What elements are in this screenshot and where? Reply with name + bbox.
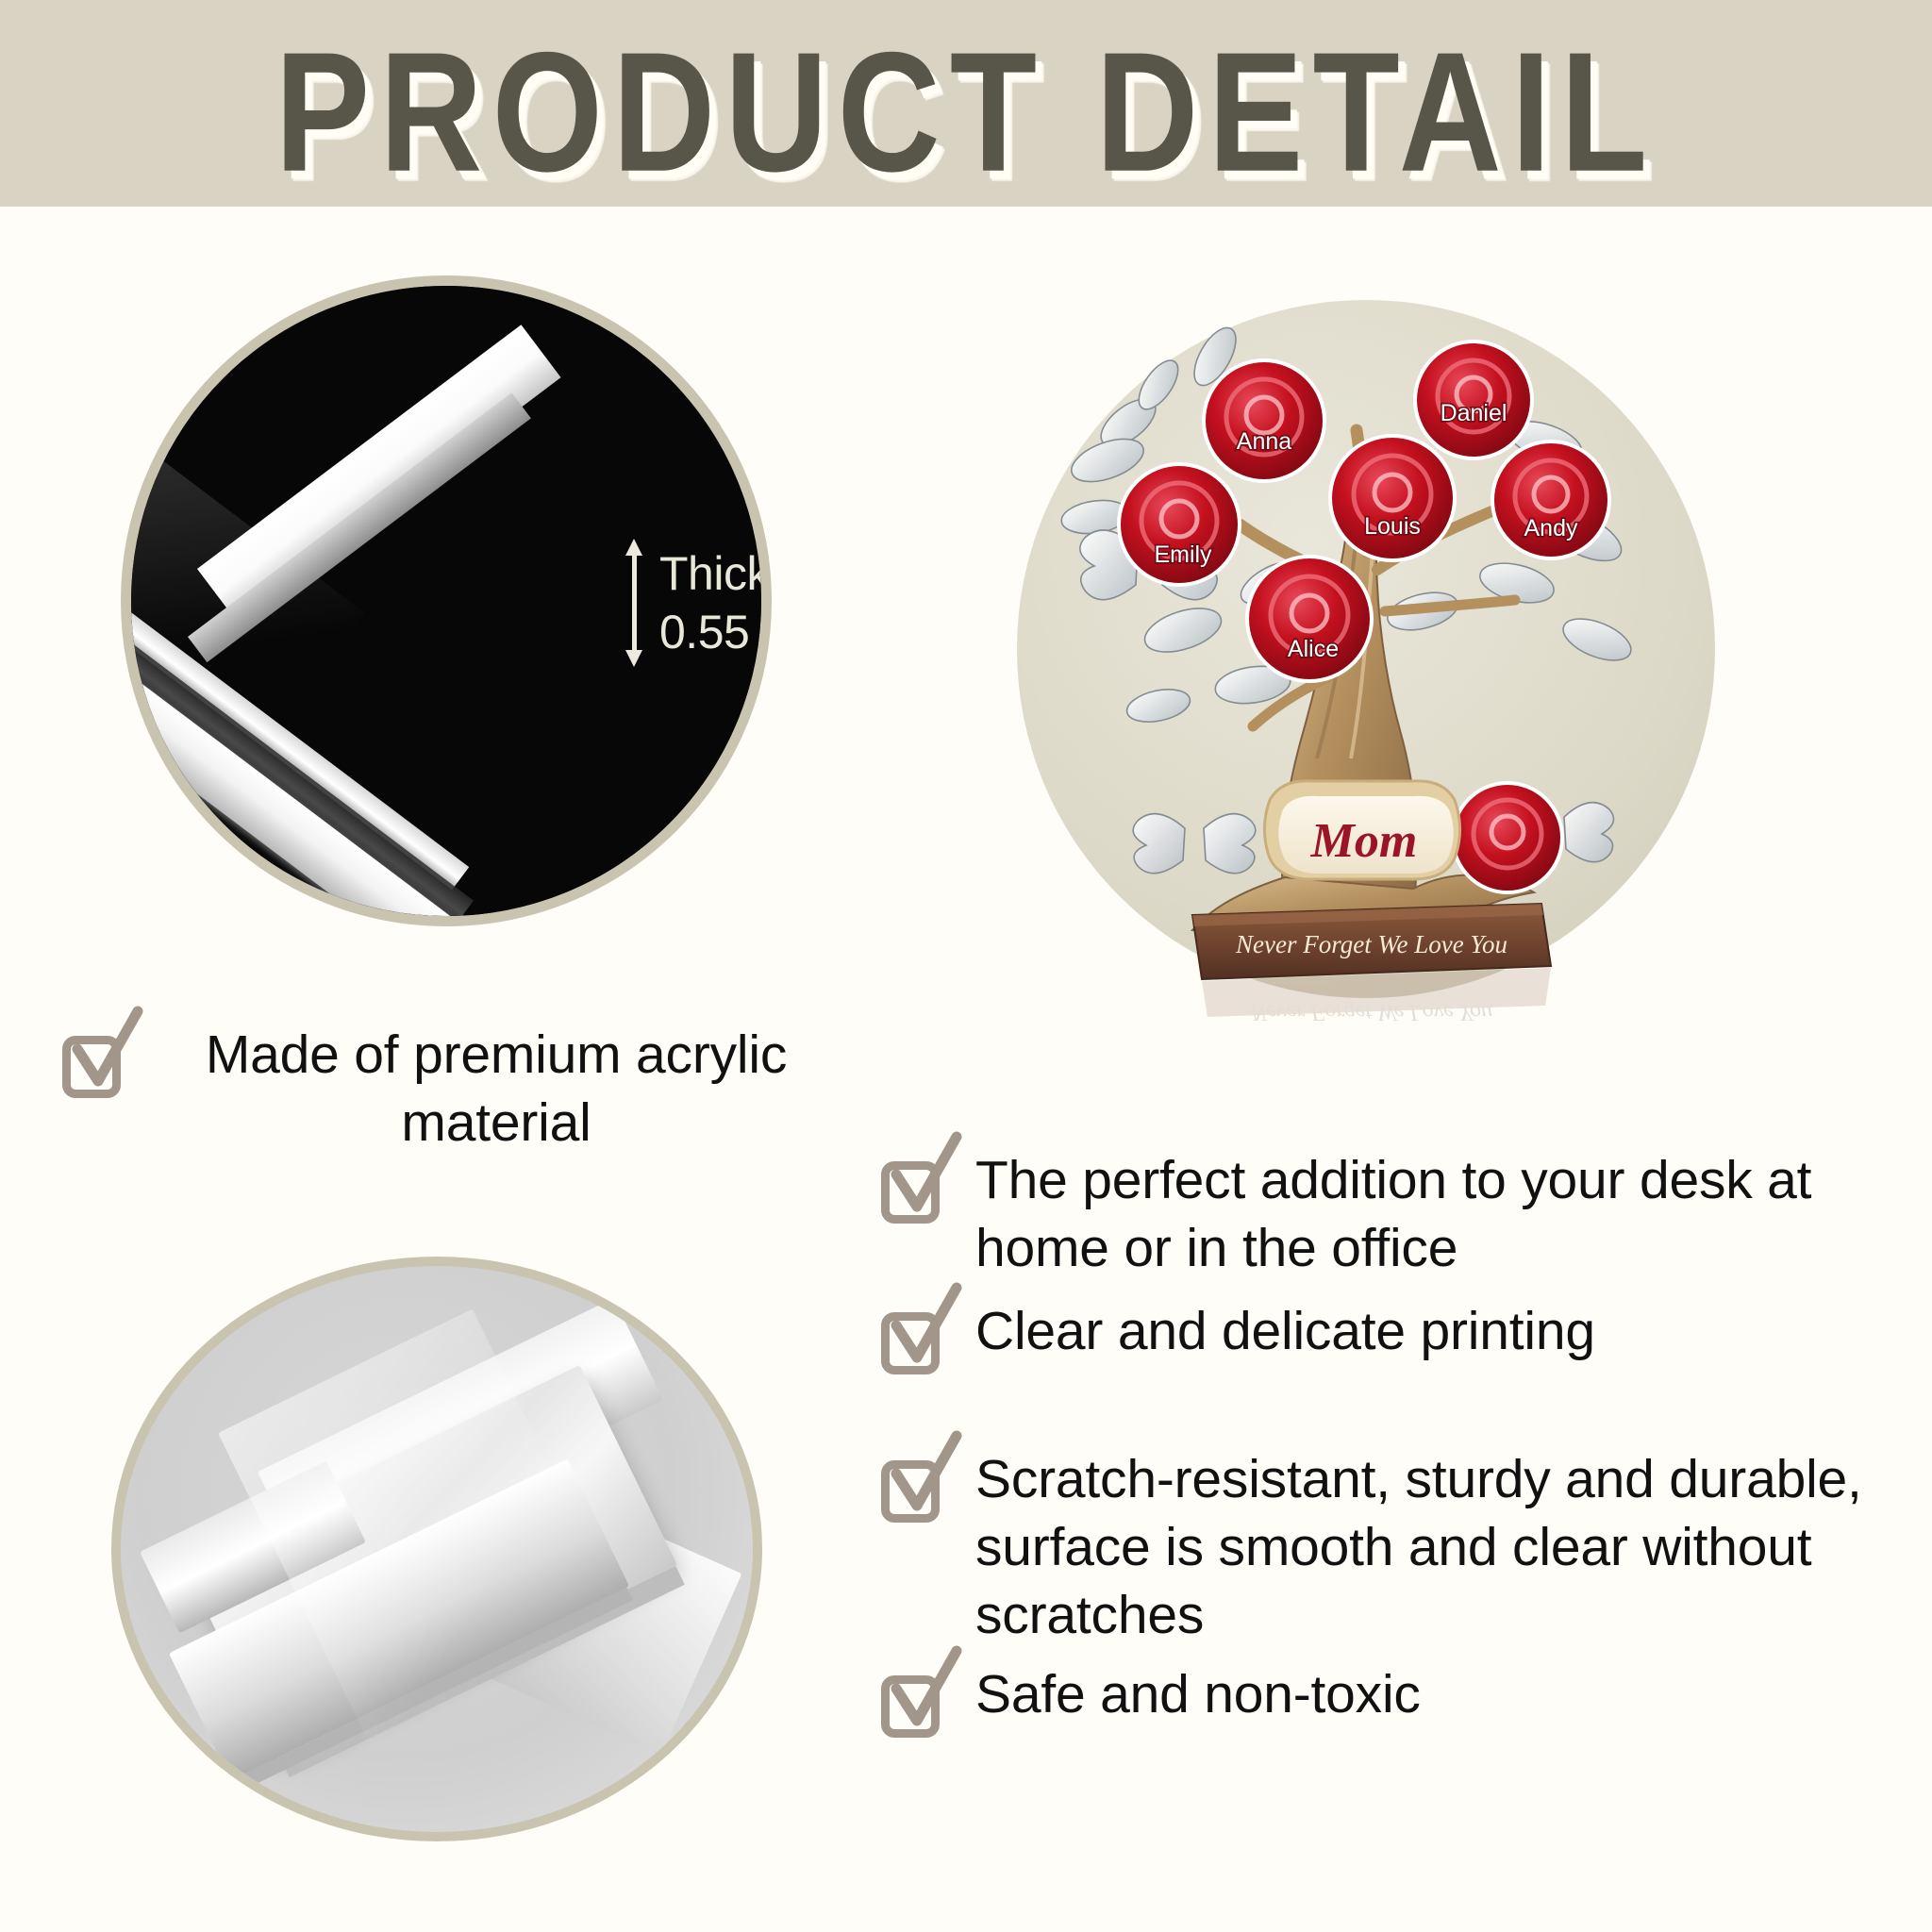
feature-item-scratch: Scratch-resistant, sturdy and durable, s… <box>877 1445 1924 1649</box>
checkmark-icon <box>877 1303 951 1376</box>
thickness-label-line1: Thickness <box>659 544 761 603</box>
acrylic-sheets-photo <box>121 1266 753 1832</box>
thickness-callout: Thickness 0.55 in <box>622 539 761 667</box>
feature-label-desk: The perfect addition to your desk at hom… <box>975 1146 1924 1282</box>
thickness-photo-circle: Thickness 0.55 in <box>121 275 772 926</box>
acrylic-sheets-photo-circle <box>111 1257 762 1841</box>
thickness-label: Thickness 0.55 in <box>659 544 761 661</box>
thickness-photo: Thickness 0.55 in <box>131 286 761 916</box>
feature-item-printing: Clear and delicate printing <box>877 1297 1924 1376</box>
feature-label-printing: Clear and delicate printing <box>975 1297 1595 1365</box>
acrylic-face <box>197 325 561 622</box>
checkmark-icon <box>877 1666 951 1740</box>
checkmark-icon <box>877 1451 951 1524</box>
product-photo-circle <box>1017 300 1715 998</box>
feature-label-safe: Safe and non-toxic <box>975 1660 1421 1728</box>
feature-item-material: Made of premium acrylic material <box>58 1021 908 1157</box>
thickness-label-line2: 0.55 in <box>659 603 761 661</box>
checkmark-icon <box>877 1152 951 1225</box>
feature-item-safe: Safe and non-toxic <box>877 1660 1924 1740</box>
page-title: PRODUCT DETAIL <box>0 9 1932 217</box>
feature-label-material: Made of premium acrylic material <box>157 1021 836 1157</box>
product-detail-page: PRODUCT DETAIL Thickness 0.55 in <box>0 0 1932 1932</box>
feature-item-desk: The perfect addition to your desk at hom… <box>877 1146 1924 1282</box>
checkmark-icon <box>58 1026 132 1100</box>
double-headed-vertical-arrow-icon <box>622 539 646 667</box>
svg-text:Never Forget We Love You: Never Forget We Love You <box>1250 1000 1492 1024</box>
feature-label-scratch: Scratch-resistant, sturdy and durable, s… <box>975 1445 1924 1649</box>
